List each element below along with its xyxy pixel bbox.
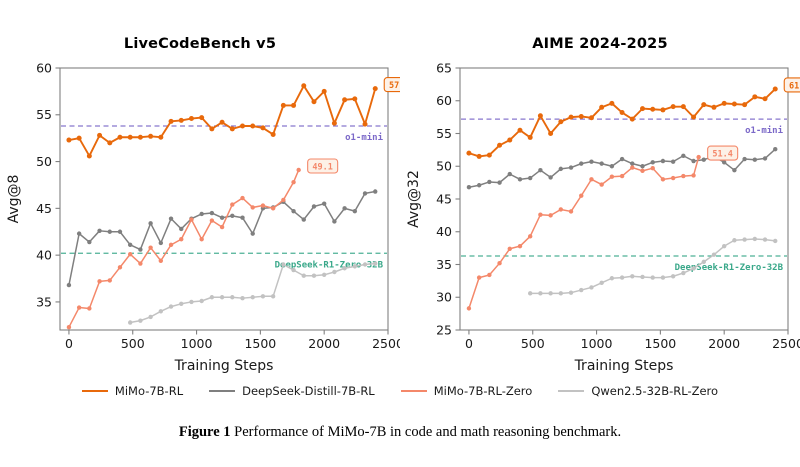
data-point	[77, 231, 81, 235]
data-point	[538, 113, 543, 118]
data-point	[210, 218, 214, 222]
y-axis-label: Avg@32	[406, 170, 422, 228]
data-point	[179, 227, 183, 231]
data-point	[640, 275, 644, 279]
data-point	[240, 216, 244, 220]
y-tick-label: 60	[36, 60, 52, 75]
data-point	[589, 115, 594, 120]
data-point	[691, 115, 696, 120]
data-point	[332, 270, 336, 274]
legend-line-icon	[82, 390, 108, 392]
data-point	[569, 165, 573, 169]
caption-label: Figure 1	[179, 424, 231, 440]
data-point	[67, 325, 71, 329]
y-tick-label: 25	[436, 322, 452, 337]
y-tick-label: 60	[436, 93, 452, 108]
data-point	[752, 94, 757, 99]
data-point	[661, 159, 665, 163]
data-point	[722, 160, 726, 164]
data-point	[487, 273, 491, 277]
data-point	[589, 177, 593, 181]
data-point	[240, 196, 244, 200]
x-tick-label: 1000	[181, 336, 213, 351]
data-point	[373, 189, 377, 193]
data-point	[118, 265, 122, 269]
data-point	[548, 175, 552, 179]
data-point	[477, 183, 481, 187]
plot-frame	[60, 68, 388, 330]
data-point	[610, 164, 614, 168]
data-point	[671, 159, 675, 163]
data-point	[302, 217, 306, 221]
data-point	[742, 102, 747, 107]
data-point	[179, 302, 183, 306]
legend-label: Qwen2.5-32B-RL-Zero	[591, 384, 718, 398]
data-point	[159, 241, 163, 245]
data-point	[640, 106, 645, 111]
annotation-1: 51.4	[708, 146, 738, 160]
x-tick-label: 500	[521, 336, 545, 351]
data-point	[467, 306, 471, 310]
y-tick-label: 50	[36, 154, 52, 169]
x-axis-label: Training Steps	[574, 358, 674, 374]
data-point	[312, 204, 316, 208]
data-point	[763, 156, 767, 160]
data-point	[599, 182, 603, 186]
data-point	[342, 206, 346, 210]
legend-label: MiMo-7B-RL-Zero	[434, 384, 533, 398]
legend-line-icon	[401, 390, 427, 392]
data-point	[507, 138, 512, 143]
data-point	[610, 276, 614, 280]
data-point	[651, 275, 655, 279]
data-point	[97, 279, 101, 283]
figure-caption: Figure 1 Performance of MiMo-7B in code …	[0, 424, 800, 441]
y-tick-label: 45	[36, 201, 52, 216]
data-point	[291, 209, 295, 213]
annotation-label: 49.1	[312, 162, 332, 172]
data-point	[311, 99, 316, 104]
data-point	[159, 259, 163, 263]
data-point	[691, 173, 695, 177]
data-point	[650, 107, 655, 112]
chart-legend: MiMo-7B-RLDeepSeek-Distill-7B-RLMiMo-7B-…	[0, 376, 800, 406]
caption-text: Performance of MiMo-7B in code and math …	[234, 424, 621, 440]
data-point	[702, 260, 706, 264]
data-point	[189, 116, 194, 121]
data-point	[189, 300, 193, 304]
legend-line-icon	[209, 390, 235, 392]
annotation-label: 61.8	[789, 81, 800, 91]
data-point	[701, 102, 706, 107]
data-point	[467, 185, 471, 189]
data-point	[210, 211, 214, 215]
data-point	[261, 294, 265, 298]
data-point	[559, 167, 563, 171]
data-point	[558, 119, 563, 124]
data-point	[332, 219, 336, 223]
data-point	[281, 198, 285, 202]
y-tick-label: 45	[436, 191, 452, 206]
annotation-0: 61.8	[784, 78, 800, 92]
chart-panel-aime: AIME 2024-2025 0500100015002000250025303…	[400, 0, 800, 375]
data-point	[158, 135, 163, 140]
data-point	[108, 278, 112, 282]
chart-panels: LiveCodeBench v5 05001000150020002500354…	[0, 0, 800, 375]
data-point	[169, 119, 174, 124]
legend-item-1[interactable]: DeepSeek-Distill-7B-RL	[209, 384, 375, 398]
data-point	[589, 159, 593, 163]
data-point	[281, 262, 285, 266]
x-tick-label: 0	[465, 336, 473, 351]
data-point	[518, 177, 522, 181]
data-point	[538, 213, 542, 217]
data-point	[312, 274, 316, 278]
data-point	[487, 153, 492, 158]
data-point	[528, 176, 532, 180]
data-point	[210, 295, 214, 299]
data-point	[569, 290, 573, 294]
data-point	[67, 283, 71, 287]
data-point	[159, 309, 163, 313]
data-point	[569, 209, 573, 213]
data-point	[138, 318, 142, 322]
data-point	[169, 216, 173, 220]
data-point	[260, 125, 265, 130]
reference-line-label-0: o1-mini	[345, 132, 384, 143]
data-point	[661, 275, 665, 279]
legend-label: DeepSeek-Distill-7B-RL	[242, 384, 375, 398]
data-point	[107, 140, 112, 145]
data-point	[620, 110, 625, 115]
data-point	[97, 133, 102, 138]
data-point	[538, 168, 542, 172]
data-point	[128, 320, 132, 324]
data-point	[651, 160, 655, 164]
x-tick-label: 500	[121, 336, 145, 351]
annotation-0: 57.8	[384, 78, 400, 92]
data-point	[742, 237, 746, 241]
data-point	[671, 104, 676, 109]
data-point	[696, 155, 700, 159]
x-axis-label: Training Steps	[174, 358, 274, 374]
x-tick-label: 1000	[581, 336, 613, 351]
data-point	[291, 180, 295, 184]
data-point	[773, 147, 777, 151]
data-point	[773, 239, 777, 243]
x-tick-label: 2000	[308, 336, 340, 351]
data-point	[569, 115, 574, 120]
data-point	[773, 86, 778, 91]
data-point	[702, 158, 706, 162]
data-point	[199, 212, 203, 216]
data-point	[763, 237, 767, 241]
data-point	[620, 275, 624, 279]
data-point	[301, 83, 306, 88]
data-point	[620, 157, 624, 161]
data-point	[363, 122, 368, 127]
data-point	[118, 230, 122, 234]
data-point	[508, 247, 512, 251]
data-point	[353, 209, 357, 213]
data-point	[77, 305, 81, 309]
y-tick-label: 35	[36, 294, 52, 309]
legend-item-2[interactable]: MiMo-7B-RL-Zero	[401, 384, 533, 398]
data-point	[763, 96, 768, 101]
data-point	[732, 102, 737, 107]
y-axis-label: Avg@8	[6, 175, 22, 224]
data-point	[599, 161, 603, 165]
data-point	[271, 206, 275, 210]
data-point	[732, 168, 736, 172]
data-point	[240, 296, 244, 300]
data-point	[291, 268, 295, 272]
data-point	[66, 138, 71, 143]
y-tick-label: 55	[436, 126, 452, 141]
data-point	[128, 243, 132, 247]
data-point	[548, 131, 553, 136]
data-point	[117, 135, 122, 140]
annotation-label: 51.4	[712, 149, 732, 159]
x-tick-label: 2500	[372, 336, 400, 351]
data-point	[261, 203, 265, 207]
legend-item-3[interactable]: Qwen2.5-32B-RL-Zero	[558, 384, 718, 398]
data-point	[579, 194, 583, 198]
y-tick-label: 40	[36, 248, 52, 263]
data-point	[373, 261, 377, 265]
data-point	[179, 118, 184, 123]
data-point	[296, 168, 300, 172]
data-point	[240, 124, 245, 129]
data-point	[691, 266, 695, 270]
data-point	[302, 274, 306, 278]
data-point	[230, 126, 235, 131]
data-point	[271, 132, 276, 137]
data-point	[589, 285, 593, 289]
data-point	[220, 295, 224, 299]
data-point	[517, 128, 522, 133]
annotation-1: 49.1	[308, 159, 338, 173]
data-point	[681, 154, 685, 158]
data-point	[148, 315, 152, 319]
data-point	[220, 225, 224, 229]
data-point	[148, 245, 152, 249]
data-point	[671, 274, 675, 278]
x-tick-label: 1500	[244, 336, 276, 351]
data-point	[681, 174, 685, 178]
data-point	[579, 288, 583, 292]
data-point	[332, 121, 337, 126]
data-point	[179, 237, 183, 241]
figure-root: LiveCodeBench v5 05001000150020002500354…	[0, 0, 800, 467]
data-point	[477, 154, 482, 159]
data-point	[138, 261, 142, 265]
reference-line-label-0: o1-mini	[745, 125, 784, 136]
data-point	[742, 157, 746, 161]
data-point	[87, 306, 91, 310]
data-point	[528, 234, 532, 238]
y-tick-label: 40	[436, 224, 452, 239]
data-point	[691, 159, 695, 163]
data-point	[660, 107, 665, 112]
data-point	[169, 304, 173, 308]
data-point	[363, 262, 367, 266]
data-point	[497, 261, 501, 265]
data-point	[630, 165, 634, 169]
data-point	[732, 238, 736, 242]
data-point	[373, 86, 378, 91]
legend-line-icon	[558, 390, 584, 392]
y-tick-label: 65	[436, 60, 452, 75]
data-point	[671, 176, 675, 180]
plot-aime: 05001000150020002500253035404550556065Tr…	[400, 0, 800, 375]
data-point	[559, 207, 563, 211]
data-point	[528, 135, 533, 140]
x-tick-label: 0	[65, 336, 73, 351]
data-point	[352, 96, 357, 101]
data-point	[169, 243, 173, 247]
data-point	[128, 252, 132, 256]
data-point	[651, 166, 655, 170]
data-point	[230, 202, 234, 206]
data-point	[322, 273, 326, 277]
data-point	[712, 252, 716, 256]
data-point	[559, 291, 563, 295]
annotation-label: 57.8	[389, 81, 400, 91]
data-point	[579, 161, 583, 165]
data-point	[528, 291, 532, 295]
data-point	[199, 299, 203, 303]
data-point	[77, 136, 82, 141]
data-point	[87, 153, 92, 158]
data-point	[640, 164, 644, 168]
data-point	[548, 213, 552, 217]
data-point	[97, 229, 101, 233]
data-point	[609, 101, 614, 106]
data-point	[753, 158, 757, 162]
data-point	[322, 89, 327, 94]
data-point	[209, 126, 214, 131]
data-point	[251, 295, 255, 299]
x-tick-label: 1500	[644, 336, 676, 351]
data-point	[230, 214, 234, 218]
data-point	[251, 231, 255, 235]
data-point	[722, 101, 727, 106]
data-point	[189, 217, 193, 221]
data-point	[148, 134, 153, 139]
data-point	[138, 247, 142, 251]
data-point	[548, 291, 552, 295]
data-point	[681, 104, 686, 109]
data-point	[466, 151, 471, 156]
data-point	[271, 294, 275, 298]
data-point	[199, 115, 204, 120]
x-tick-label: 2000	[708, 336, 740, 351]
data-point	[753, 237, 757, 241]
data-point	[630, 274, 634, 278]
data-point	[640, 169, 644, 173]
y-tick-label: 55	[36, 107, 52, 122]
y-tick-label: 30	[436, 290, 452, 305]
data-point	[630, 117, 635, 122]
data-point	[87, 240, 91, 244]
data-point	[291, 103, 296, 108]
data-point	[508, 172, 512, 176]
data-point	[661, 177, 665, 181]
y-tick-label: 35	[436, 257, 452, 272]
data-point	[538, 291, 542, 295]
plot-frame	[460, 68, 788, 330]
data-point	[342, 266, 346, 270]
data-point	[722, 244, 726, 248]
data-point	[599, 281, 603, 285]
data-point	[681, 271, 685, 275]
data-point	[281, 103, 286, 108]
legend-label: MiMo-7B-RL	[115, 384, 183, 398]
data-point	[630, 161, 634, 165]
data-point	[518, 244, 522, 248]
data-point	[487, 180, 491, 184]
data-point	[599, 105, 604, 110]
data-point	[220, 120, 225, 125]
legend-item-0[interactable]: MiMo-7B-RL	[82, 384, 183, 398]
data-point	[363, 191, 367, 195]
plot-livecodebench: 05001000150020002500354045505560Training…	[0, 0, 400, 375]
data-point	[148, 221, 152, 225]
data-point	[353, 264, 357, 268]
data-point	[610, 175, 614, 179]
reference-line-label-1: DeepSeek-R1-Zero-32B	[675, 263, 784, 273]
data-point	[251, 205, 255, 209]
data-point	[711, 105, 716, 110]
x-tick-label: 2500	[772, 336, 800, 351]
data-point	[138, 135, 143, 140]
data-point	[477, 275, 481, 279]
data-point	[342, 97, 347, 102]
data-point	[620, 174, 624, 178]
data-point	[579, 114, 584, 119]
data-point	[128, 135, 133, 140]
data-point	[250, 124, 255, 129]
data-point	[322, 201, 326, 205]
data-point	[108, 230, 112, 234]
chart-panel-livecodebench: LiveCodeBench v5 05001000150020002500354…	[0, 0, 400, 375]
y-tick-label: 50	[436, 159, 452, 174]
data-point	[497, 180, 501, 184]
data-point	[199, 237, 203, 241]
data-point	[497, 143, 502, 148]
data-point	[230, 295, 234, 299]
data-point	[220, 216, 224, 220]
